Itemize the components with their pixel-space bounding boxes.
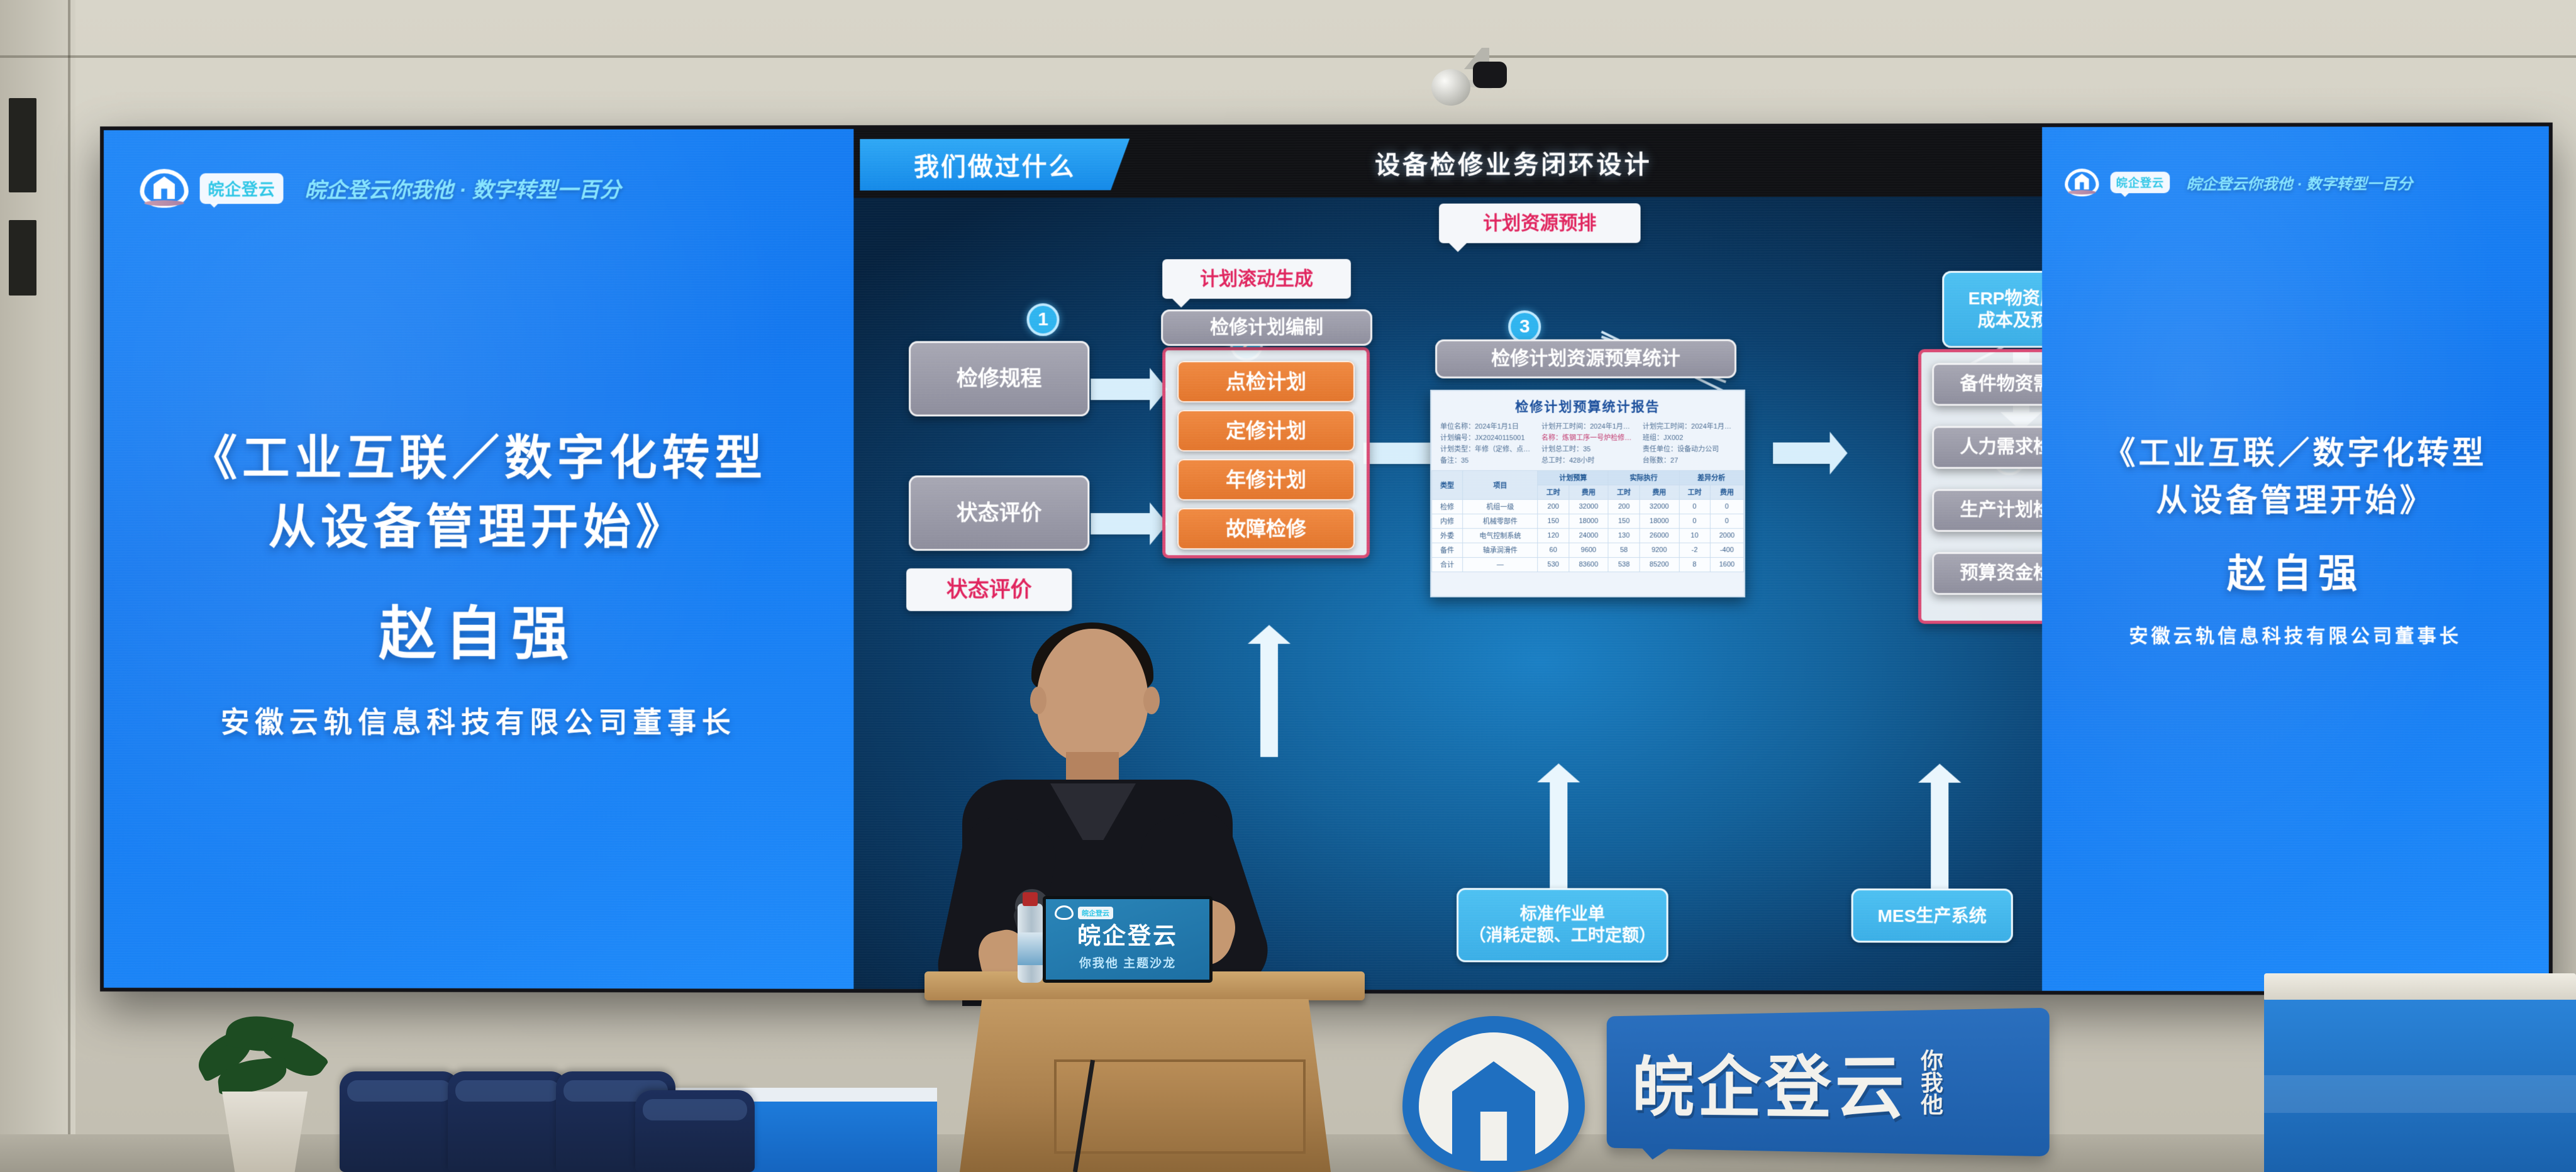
- laptop-badge: 皖企登云: [1078, 907, 1113, 919]
- cell: 0: [1710, 499, 1743, 514]
- cell: 18000: [1640, 514, 1679, 528]
- laptop-subtitle: 你我他 主题沙龙: [1079, 954, 1176, 971]
- cloud-logo-icon-laptop: [1055, 905, 1074, 920]
- cell: 24000: [1568, 528, 1608, 543]
- node-standard-worksheet[interactable]: 标准作业单 （消耗定额、工时定额）: [1457, 888, 1668, 963]
- cloud-logo-icon-large: [1402, 1016, 1585, 1172]
- cell: 150: [1538, 514, 1568, 528]
- wall-vent-upper: [9, 98, 36, 192]
- water-bottle: [1018, 904, 1043, 983]
- cell: 1600: [1710, 557, 1743, 572]
- presenter-ear-left: [1030, 687, 1046, 714]
- led-video-wall: 皖企登云 皖企登云你我他 · 数字转型一百分 《工业互联／数字化转型 从设备管理…: [100, 123, 2553, 995]
- app-meta-2: 计划完工时间：2024年1月20日: [1643, 421, 1735, 431]
- app-meta-11: 台账数：27: [1643, 455, 1735, 465]
- foreground-brand-sign: 皖企登云 你我他: [1402, 1012, 2038, 1172]
- cell: 10: [1679, 528, 1710, 543]
- app-meta-10: 总工时：428小时: [1541, 455, 1634, 465]
- left-speaker-name: 赵自强: [141, 587, 816, 671]
- app-meta-4: 名称：炼钢工序一号炉检修作业: [1541, 433, 1634, 443]
- laptop-brand-row: 皖企登云: [1055, 905, 1113, 920]
- front-table-right: [2264, 973, 2576, 1172]
- cell: 合计: [1432, 557, 1463, 572]
- app-meta-0: 单位名称：2024年1月1日: [1440, 421, 1533, 431]
- cell: 130: [1608, 528, 1639, 543]
- app-meta-6: 计划类型：年修（定修、点检、抢修）: [1440, 444, 1533, 454]
- table-row: 检修 机组一级 200 32000 200 32000 0 0: [1432, 499, 1744, 514]
- cell: 530: [1538, 557, 1568, 572]
- left-logo-badge: 皖企登云: [200, 173, 284, 204]
- cell: 8: [1679, 557, 1710, 572]
- cell: 120: [1538, 528, 1568, 543]
- cell: 32000: [1640, 499, 1679, 514]
- app-screenshot-table: 类型 项目 计划预算 实际执行 差异分析 工时 费用 工时 费用 工时 费用: [1431, 470, 1744, 572]
- right-title-panel: 皖企登云 皖企登云你我他 · 数字转型一百分 《工业互联／数字化转型 从设备管理…: [2042, 126, 2549, 992]
- app-col-0: 类型: [1432, 470, 1463, 499]
- cell: 32000: [1568, 499, 1608, 514]
- right-logo-badge: 皖企登云: [2111, 172, 2170, 193]
- arrow-up-standard-worksheet: [1550, 782, 1567, 889]
- cell: 内修: [1432, 514, 1463, 528]
- podium: 皖企登云 皖企登云 你我他 主题沙龙: [924, 971, 1365, 1172]
- step-badge-1: 1: [1027, 303, 1060, 336]
- wall-seam-vertical-b: [68, 55, 70, 1172]
- node-standard-worksheet-line2: （消耗定额、工时定额）: [1469, 925, 1657, 946]
- app-screenshot-tbody: 检修 机组一级 200 32000 200 32000 0 0 内修 机械零部件…: [1432, 499, 1744, 572]
- wall-seam-vertical-a: [68, 0, 70, 58]
- app-col-7: 费用: [1710, 485, 1743, 499]
- cell: 26000: [1640, 528, 1679, 543]
- cell: 备件: [1432, 543, 1463, 557]
- node-plan-compilation[interactable]: 检修计划编制: [1161, 309, 1372, 346]
- cell: 60: [1538, 543, 1568, 557]
- left-title-line1: 《工业互联／数字化转型: [141, 424, 816, 493]
- cell: 18000: [1568, 514, 1608, 528]
- app-col-4: 工时: [1608, 485, 1639, 499]
- app-col-3: 费用: [1568, 485, 1608, 499]
- left-logo-badge-text: 皖企登云: [208, 180, 275, 199]
- arrow-up-mes: [1931, 783, 1948, 890]
- cell: 83600: [1568, 557, 1608, 572]
- cell: -400: [1710, 543, 1743, 557]
- app-meta-1: 计划开工时间：2024年1月5日: [1541, 421, 1634, 431]
- left-title-block: 《工业互联／数字化转型 从设备管理开始》 赵自强 安徽云轨信息科技有限公司董事长: [141, 424, 816, 741]
- arrow-input2-to-plans: [1091, 513, 1151, 534]
- cell: 外委: [1432, 528, 1463, 543]
- audience-chairs: [340, 1063, 742, 1172]
- app-group-2: 差异分析: [1679, 470, 1744, 485]
- left-title-line2: 从设备管理开始》: [141, 493, 816, 562]
- node-annual-repair-plan[interactable]: 年修计划: [1177, 459, 1355, 500]
- cell: 200: [1538, 499, 1568, 514]
- node-inspection-regulation[interactable]: 检修规程: [909, 341, 1089, 416]
- presenter-head: [1036, 629, 1148, 763]
- callout-condition-assessment: 状态评价: [906, 568, 1072, 611]
- app-col-6: 工时: [1679, 485, 1710, 499]
- app-col-5: 费用: [1640, 485, 1679, 499]
- app-col-2: 工时: [1538, 485, 1568, 499]
- table-row: 合计 — 530 83600 538 85200 8 1600: [1432, 557, 1744, 572]
- left-tagline: 皖企登云你我他 · 数字转型一百分: [304, 172, 621, 204]
- cell: 9200: [1640, 543, 1679, 557]
- app-screenshot-title: 检修计划预算统计报告: [1431, 391, 1744, 420]
- node-scheduled-repair-plan[interactable]: 定修计划: [1177, 410, 1355, 451]
- brand-sign-plate: 皖企登云 你我他: [1607, 1008, 2050, 1157]
- arrow-up-to-plans: [1260, 644, 1278, 757]
- left-brand-row: 皖企登云 皖企登云你我他 · 数字转型一百分: [140, 169, 621, 208]
- cell: 0: [1710, 514, 1743, 528]
- node-condition-assessment[interactable]: 状态评价: [909, 475, 1089, 551]
- left-title-panel: 皖企登云 皖企登云你我他 · 数字转型一百分 《工业互联／数字化转型 从设备管理…: [104, 129, 853, 989]
- node-budget-statistics[interactable]: 检修计划资源预算统计: [1435, 339, 1736, 378]
- table-row: 外委 电气控制系统 120 24000 130 26000 10 2000: [1432, 528, 1744, 543]
- brand-sign-main-text: 皖企登云: [1632, 1032, 1908, 1132]
- potted-plant: [182, 1012, 346, 1172]
- podium-body: [960, 999, 1331, 1172]
- app-meta-7: 计划总工时：35: [1541, 444, 1634, 454]
- slide-title: 设备检修业务闭环设计: [853, 143, 2176, 182]
- left-speaker-org: 安徽云轨信息科技有限公司董事长: [141, 699, 816, 741]
- cell: -2: [1679, 543, 1710, 557]
- presenter-ear-right: [1143, 687, 1160, 714]
- right-logo-badge-text: 皖企登云: [2116, 177, 2164, 189]
- right-title-block: 《工业互联／数字化转型 从设备管理开始》 赵自强 安徽云轨信息科技有限公司董事长: [2061, 429, 2529, 648]
- right-tagline: 皖企登云你我他 · 数字转型一百分: [2186, 171, 2412, 194]
- callout-rolling-plan-generation: 计划滚动生成: [1162, 259, 1351, 299]
- app-group-0: 计划预算: [1538, 470, 1608, 485]
- cell: 85200: [1640, 557, 1679, 572]
- app-col-1: 项目: [1463, 470, 1538, 499]
- cell: 电气控制系统: [1463, 528, 1538, 543]
- table-row: 备件 轴承润滑件 60 9600 58 9200 -2 -400: [1432, 543, 1744, 557]
- right-brand-row: 皖企登云 皖企登云你我他 · 数字转型一百分: [2065, 168, 2412, 196]
- node-point-inspection-plan[interactable]: 点检计划: [1177, 361, 1355, 402]
- brand-sign-sub-text: 你我他: [1918, 1049, 1941, 1115]
- step-badge-3: 3: [1508, 311, 1541, 343]
- cloud-logo-icon-right: [2065, 169, 2099, 196]
- arrow-budget-to-checks: [1773, 443, 1831, 464]
- cell: 9600: [1568, 543, 1608, 557]
- app-meta-3: 计划编号：JX20240115001: [1440, 433, 1533, 443]
- cell: 200: [1608, 499, 1639, 514]
- app-meta-5: 班组：JX002: [1643, 433, 1735, 443]
- cell: 58: [1608, 543, 1639, 557]
- app-group-1: 实际执行: [1608, 470, 1679, 485]
- app-meta-9: 备注：35: [1440, 455, 1533, 465]
- right-speaker-name: 赵自强: [2061, 542, 2529, 599]
- right-speaker-org: 安徽云轨信息科技有限公司董事长: [2061, 620, 2529, 648]
- cell: 机械零部件: [1463, 514, 1538, 528]
- app-screenshot-meta: 单位名称：2024年1月1日 计划开工时间：2024年1月5日 计划完工时间：2…: [1431, 420, 1744, 470]
- laptop-title: 皖企登云: [1077, 917, 1178, 951]
- cell: 轴承润滑件: [1463, 543, 1538, 557]
- right-title-line2: 从设备管理开始》: [2061, 477, 2529, 524]
- cell: 150: [1608, 514, 1639, 528]
- app-meta-8: 责任单位：设备动力公司: [1643, 444, 1735, 454]
- arrow-input1-to-plans: [1091, 379, 1151, 400]
- node-fault-repair[interactable]: 故障检修: [1177, 508, 1355, 550]
- node-standard-worksheet-line1: 标准作业单: [1520, 904, 1605, 926]
- cell: 2000: [1710, 528, 1743, 543]
- cell: 538: [1608, 557, 1639, 572]
- node-mes-system[interactable]: MES生产系统: [1851, 888, 2013, 943]
- laptop-screen: 皖企登云 皖企登云 你我他 主题沙龙: [1043, 896, 1213, 983]
- security-camera-icon: [1431, 48, 1507, 108]
- right-title-line1: 《工业互联／数字化转型: [2061, 429, 2529, 477]
- cell: 机组一级: [1463, 499, 1538, 514]
- table-row: 内修 机械零部件 150 18000 150 18000 0 0: [1432, 514, 1744, 528]
- cell: —: [1463, 557, 1538, 572]
- wall-vent-lower: [9, 220, 36, 296]
- cell: 0: [1679, 499, 1710, 514]
- cell: 检修: [1432, 499, 1463, 514]
- wall-seam-horizontal-top: [0, 55, 2576, 58]
- embedded-app-screenshot: 检修计划预算统计报告 单位名称：2024年1月1日 计划开工时间：2024年1月…: [1430, 390, 1745, 598]
- arrow-plans-to-budget: [1363, 443, 1433, 464]
- cell: 0: [1679, 514, 1710, 528]
- callout-resource-prescheduling: 计划资源预排: [1439, 203, 1641, 243]
- cloud-logo-icon: [140, 169, 188, 208]
